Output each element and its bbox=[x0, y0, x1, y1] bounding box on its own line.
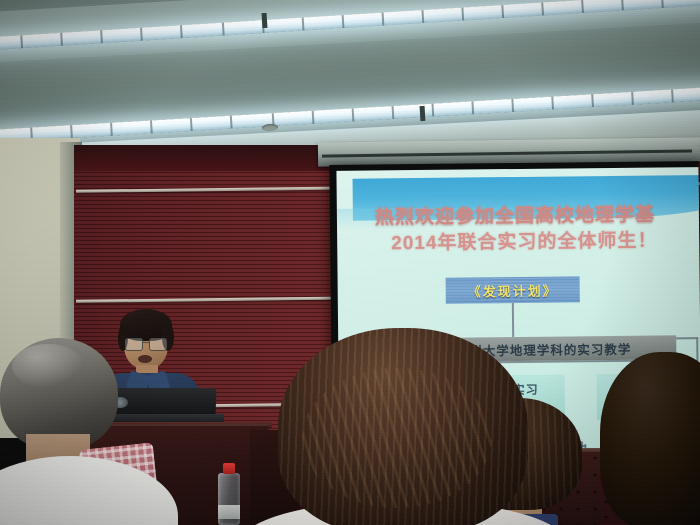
housing-slot bbox=[322, 149, 692, 157]
slide-title-line-2: 2014年联合实习的全体师生！ bbox=[391, 224, 700, 255]
slide-node-plan: 《发现计划》 bbox=[446, 276, 580, 303]
audience-member-front-left bbox=[0, 338, 188, 525]
light-strip-joint bbox=[420, 106, 426, 121]
audience-member-front-right bbox=[600, 352, 700, 525]
light-strip-joint bbox=[262, 13, 268, 28]
lecture-hall-photo: 热烈欢迎参加全国高校地理学基 2014年联合实习的全体师生！ 《发现计划》 州大… bbox=[0, 0, 700, 525]
audience-member-front-center bbox=[278, 328, 528, 525]
audience-hair-highlight bbox=[12, 344, 84, 388]
bottle-cap bbox=[223, 463, 235, 474]
audience-head bbox=[600, 352, 700, 525]
audience-hair-wave bbox=[302, 368, 492, 508]
water-bottle bbox=[218, 463, 240, 525]
slide-connector bbox=[676, 337, 698, 339]
